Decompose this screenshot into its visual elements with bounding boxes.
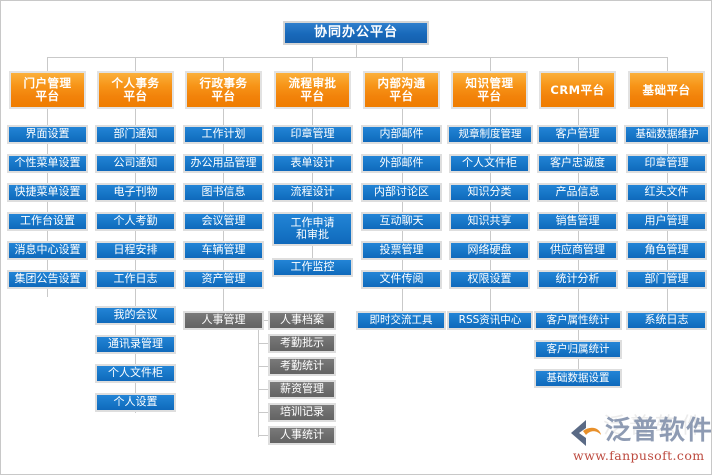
- item-knowledge-2[interactable]: 知识分类: [449, 183, 530, 202]
- item-portal-5[interactable]: 集团公告设置: [7, 270, 88, 289]
- logo-brand-text: 泛普软件: [605, 414, 712, 448]
- item-comm-5[interactable]: 文件传阅: [361, 270, 442, 289]
- item-crm-1[interactable]: 客户忠诚度: [537, 154, 618, 173]
- item-crm-8[interactable]: 基础数据设置: [534, 369, 622, 388]
- item-knowledge-1[interactable]: 个人文件柜: [449, 154, 530, 173]
- logo-url-text: www.fanpusoft.com: [573, 448, 705, 463]
- item-knowledge-3[interactable]: 知识共享: [449, 212, 530, 231]
- item-crm-5[interactable]: 统计分析: [537, 270, 618, 289]
- connector-hr-spine: [258, 320, 259, 437]
- item-comm-6[interactable]: 即时交流工具: [356, 311, 446, 330]
- item-hr-5[interactable]: 人事统计: [268, 426, 336, 445]
- platform-header-2[interactable]: 行政事务 平台: [185, 71, 262, 109]
- connector-drop-4: [312, 57, 313, 71]
- connector-drop-5: [402, 57, 403, 71]
- item-base-0[interactable]: 基础数据维护: [624, 125, 710, 144]
- company-logo: 泛普软件 泛普软件 www.fanpusoft.com: [567, 410, 705, 468]
- item-base-4[interactable]: 角色管理: [626, 241, 707, 260]
- item-comm-0[interactable]: 内部邮件: [361, 125, 442, 144]
- item-hr-3[interactable]: 薪资管理: [268, 380, 336, 399]
- item-admin-1[interactable]: 办公用品管理: [183, 154, 264, 173]
- item-personal-9[interactable]: 个人设置: [95, 393, 176, 412]
- item-knowledge-6[interactable]: RSS资讯中心: [447, 311, 533, 330]
- item-base-2[interactable]: 红头文件: [626, 183, 707, 202]
- item-crm-2[interactable]: 产品信息: [537, 183, 618, 202]
- platform-header-1[interactable]: 个人事务 平台: [97, 71, 174, 109]
- item-comm-3[interactable]: 互动聊天: [361, 212, 442, 231]
- connector-drop-1: [47, 57, 48, 71]
- platform-header-6[interactable]: CRM平台: [539, 71, 616, 109]
- org-chart-canvas: 协同办公平台 门户管理 平台 个人事务 平台 行政事务 平台 流程审批 平台 内…: [0, 0, 712, 475]
- platform-header-3[interactable]: 流程审批 平台: [274, 71, 351, 109]
- item-hr-0[interactable]: 人事档案: [268, 311, 336, 330]
- fanpu-mark-icon: [569, 418, 603, 448]
- item-workflow-3[interactable]: 工作申请 和审批: [272, 212, 353, 246]
- item-portal-3[interactable]: 工作台设置: [7, 212, 88, 231]
- item-workflow-4[interactable]: 工作监控: [272, 258, 353, 277]
- item-personal-0[interactable]: 部门通知: [95, 125, 176, 144]
- connector-root-stem: [356, 45, 357, 57]
- root-node[interactable]: 协同办公平台: [283, 21, 429, 45]
- item-base-6[interactable]: 系统日志: [626, 311, 707, 330]
- item-crm-0[interactable]: 客户管理: [537, 125, 618, 144]
- item-personal-5[interactable]: 工作日志: [95, 270, 176, 289]
- item-personal-2[interactable]: 电子刊物: [95, 183, 176, 202]
- item-personal-6[interactable]: 我的会议: [95, 306, 176, 325]
- item-hr-2[interactable]: 考勤统计: [268, 357, 336, 376]
- item-portal-1[interactable]: 个性菜单设置: [7, 154, 88, 173]
- item-crm-3[interactable]: 销售管理: [537, 212, 618, 231]
- item-base-3[interactable]: 用户管理: [626, 212, 707, 231]
- connector-drop-7: [578, 57, 579, 71]
- connector-drop-8: [667, 57, 668, 71]
- item-knowledge-4[interactable]: 网络硬盘: [449, 241, 530, 260]
- item-workflow-1[interactable]: 表单设计: [272, 154, 353, 173]
- item-admin-4[interactable]: 车辆管理: [183, 241, 264, 260]
- item-personal-4[interactable]: 日程安排: [95, 241, 176, 260]
- item-hr-1[interactable]: 考勤批示: [268, 334, 336, 353]
- platform-header-4[interactable]: 内部沟通 平台: [363, 71, 440, 109]
- connector-drop-2: [135, 57, 136, 71]
- item-workflow-0[interactable]: 印章管理: [272, 125, 353, 144]
- connector-platform-bus: [47, 57, 667, 58]
- item-base-5[interactable]: 部门管理: [626, 270, 707, 289]
- item-admin-2[interactable]: 图书信息: [183, 183, 264, 202]
- item-personal-7[interactable]: 通讯录管理: [95, 335, 176, 354]
- item-workflow-2[interactable]: 流程设计: [272, 183, 353, 202]
- item-knowledge-0[interactable]: 规章制度管理: [447, 125, 533, 144]
- platform-header-7[interactable]: 基础平台: [628, 71, 705, 109]
- item-personal-3[interactable]: 个人考勤: [95, 212, 176, 231]
- platform-header-0[interactable]: 门户管理 平台: [9, 71, 86, 109]
- item-admin-3[interactable]: 会议管理: [183, 212, 264, 231]
- connector-drop-6: [490, 57, 491, 71]
- item-admin-5[interactable]: 资产管理: [183, 270, 264, 289]
- platform-header-5[interactable]: 知识管理 平台: [451, 71, 528, 109]
- item-portal-0[interactable]: 界面设置: [7, 125, 88, 144]
- item-comm-2[interactable]: 内部讨论区: [361, 183, 442, 202]
- item-knowledge-5[interactable]: 权限设置: [449, 270, 530, 289]
- item-crm-7[interactable]: 客户归属统计: [534, 340, 622, 359]
- item-crm-6[interactable]: 客户属性统计: [534, 311, 622, 330]
- item-comm-4[interactable]: 投票管理: [361, 241, 442, 260]
- item-personal-8[interactable]: 个人文件柜: [95, 364, 176, 383]
- item-portal-2[interactable]: 快捷菜单设置: [7, 183, 88, 202]
- item-base-1[interactable]: 印章管理: [626, 154, 707, 173]
- item-crm-4[interactable]: 供应商管理: [537, 241, 618, 260]
- item-admin-hr[interactable]: 人事管理: [183, 311, 264, 330]
- item-hr-4[interactable]: 培训记录: [268, 403, 336, 422]
- connector-drop-3: [223, 57, 224, 71]
- item-admin-0[interactable]: 工作计划: [183, 125, 264, 144]
- item-comm-1[interactable]: 外部邮件: [361, 154, 442, 173]
- item-personal-1[interactable]: 公司通知: [95, 154, 176, 173]
- item-portal-4[interactable]: 消息中心设置: [7, 241, 88, 260]
